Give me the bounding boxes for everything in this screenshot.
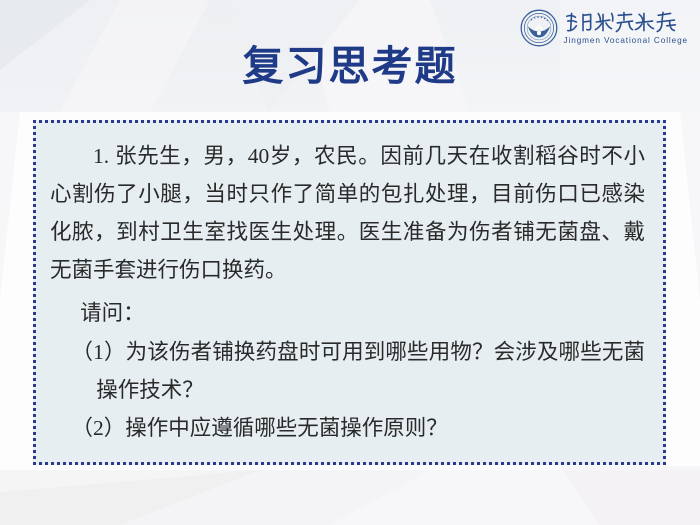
college-seal-icon: [520, 9, 558, 47]
slide-header: Jingmen Vocational College 复习思考题: [0, 0, 700, 110]
case-paragraph: 1. 张先生，男，40岁，农民。因前几天在收割稻谷时不小心割伤了小腿，当时只作了…: [50, 137, 645, 289]
college-chinese-wordmark: [564, 10, 682, 34]
college-english-name: Jingmen Vocational College: [564, 37, 688, 45]
logo-text-block: Jingmen Vocational College: [564, 10, 688, 45]
ask-label: 请问：: [50, 293, 645, 333]
question-item: （1）为该伤者铺换药盘时可用到哪些用物？会涉及哪些无菌操作技术？: [50, 333, 645, 409]
question-item: （2）操作中应遵循哪些无菌操作原则？: [50, 409, 645, 447]
question-list: （1）为该伤者铺换药盘时可用到哪些用物？会涉及哪些无菌操作技术？ （2）操作中应…: [50, 333, 645, 447]
question-content-box: 1. 张先生，男，40岁，农民。因前几天在收割稻谷时不小心割伤了小腿，当时只作了…: [33, 120, 666, 465]
page-title: 复习思考题: [0, 46, 700, 87]
college-logo: Jingmen Vocational College: [520, 6, 688, 50]
slide-root: Jingmen Vocational College 复习思考题 1. 张先生，…: [0, 0, 700, 525]
